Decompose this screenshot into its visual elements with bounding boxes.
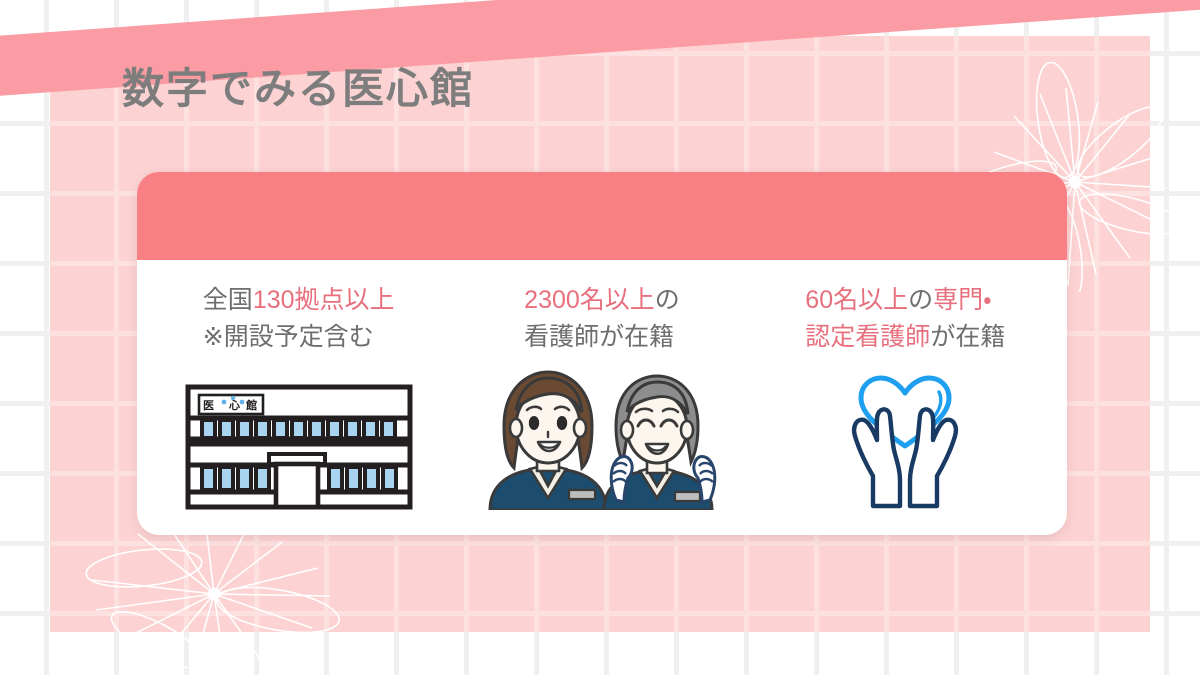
stat-certified-line1-part1: の — [908, 286, 933, 314]
stat-nurses-line2-part0: 看護師が在籍 — [524, 323, 674, 351]
stat-locations-icon-wrap: 医 心 館 — [185, 370, 413, 510]
stat-nurses-line1: 2300名以上の — [524, 282, 680, 319]
stat-locations-text: 全国130拠点以上 ※開設予定含む — [203, 282, 395, 356]
card-header-bar — [137, 172, 1067, 260]
card-body: 全国130拠点以上 ※開設予定含む 医 心 館 — [137, 260, 1067, 535]
stat-certified-nurses: 60名以上の専門・ 認定看護師が在籍 — [754, 260, 1057, 535]
stat-certified-line1-part0: 60名以上 — [805, 286, 908, 314]
stat-certified-line2: 認定看護師が在籍 — [805, 319, 1005, 356]
stat-certified-nurses-text: 60名以上の専門・ 認定看護師が在籍 — [805, 282, 1005, 356]
stat-nurses-line1-part0: 2300名以上 — [524, 286, 655, 314]
stat-certified-line1: 60名以上の専門・ — [805, 282, 1005, 319]
stat-certified-line2-part0: 認定看護師 — [805, 323, 930, 351]
building-icon: 医 心 館 — [185, 384, 413, 510]
stats-card: 全国130拠点以上 ※開設予定含む 医 心 館 — [137, 172, 1067, 535]
stat-nurses-text: 2300名以上の 看護師が在籍 — [524, 282, 680, 356]
stat-nurses-line1-part1: の — [655, 286, 680, 314]
stat-certified-line1-part2: 専門・ — [933, 286, 992, 314]
stat-nurses-icon-wrap — [474, 370, 729, 510]
stat-locations-line2-part0: ※開設予定含む — [203, 323, 374, 351]
page-title: 数字でみる医心館 — [122, 64, 474, 114]
nurse-female-brown — [490, 372, 606, 510]
heart-in-hands-icon — [843, 370, 967, 510]
stat-nurses-line2: 看護師が在籍 — [524, 319, 680, 356]
stat-nurses: 2300名以上の 看護師が在籍 — [450, 260, 753, 535]
building-sign-right: 館 — [245, 398, 257, 412]
stat-certified-icon-wrap — [843, 370, 967, 510]
stat-locations-line1-part0: 全国 — [203, 286, 253, 314]
stat-locations-line1-part1: 130拠点以上 — [253, 286, 395, 314]
stat-locations-line2: ※開設予定含む — [203, 319, 395, 356]
stat-certified-line2-part1: が在籍 — [930, 323, 1005, 351]
stat-locations: 全国130拠点以上 ※開設予定含む 医 心 館 — [147, 260, 450, 535]
stat-locations-line1: 全国130拠点以上 — [203, 282, 395, 319]
nurse-female-gray — [604, 376, 715, 510]
slide-root: 数字でみる医心館 全国130拠点以上 ※開設予定含む — [0, 0, 1200, 675]
two-nurses-icon — [474, 368, 729, 510]
building-sign-mid: 心 — [228, 398, 240, 412]
building-sign-left: 医 — [203, 399, 214, 412]
